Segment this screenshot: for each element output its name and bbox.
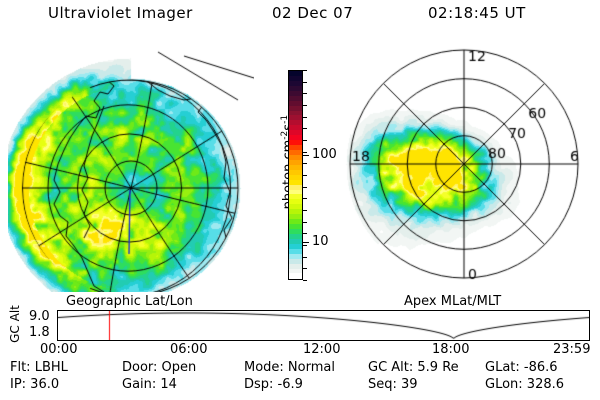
colorbar-minor-tick <box>303 198 307 199</box>
mlt-polar-panel[interactable] <box>336 42 594 294</box>
colorbar-minor-tick <box>303 82 307 83</box>
status-row-secondary: IP: 36.0Gain: 14Dsp: -6.9Seq: 39GLon: 32… <box>0 377 600 394</box>
mlt-aurora-dial[interactable] <box>336 42 594 294</box>
status-field: Mode: Normal <box>244 360 335 375</box>
orbit-y-tick-low: 1.8 <box>29 325 50 340</box>
colorbar-minor-tick <box>303 128 307 129</box>
colorbar-tick-label: 100 <box>312 148 337 161</box>
header-bar: Ultraviolet Imager 02 Dec 07 02:18:45 UT <box>0 4 600 30</box>
orbit-x-tick-label: 06:00 <box>170 342 207 357</box>
status-field: Gain: 14 <box>122 377 177 392</box>
colorbar-group: photon cm-2s-1 10010 <box>255 60 333 292</box>
colorbar-major-tick <box>303 242 309 243</box>
status-footer: Flt: LBHLDoor: OpenMode: NormalGC Alt: 5… <box>0 360 600 398</box>
colorbar-minor-tick <box>303 140 307 141</box>
colorbar-minor-tick <box>303 163 307 164</box>
status-field: GLat: -86.6 <box>485 360 558 375</box>
orbit-altitude-strip: Geographic Lat/Lon Apex MLat/MLT GC Alt … <box>0 294 600 354</box>
observation-time: 02:18:45 UT <box>428 4 526 22</box>
orbit-y-axis-label: GC Alt <box>8 301 22 347</box>
status-field: GC Alt: 5.9 Re <box>368 360 459 375</box>
geo-panel-caption: Geographic Lat/Lon <box>66 294 193 309</box>
colorbar-minor-tick <box>303 245 307 246</box>
status-field: GLon: 328.6 <box>485 377 564 392</box>
geographic-aurora-image[interactable] <box>8 46 254 292</box>
orbit-altitude-curve[interactable] <box>58 311 589 340</box>
colorbar-minor-tick <box>303 222 307 223</box>
colorbar-minor-tick <box>303 233 307 234</box>
colorbar-minor-tick <box>303 210 307 211</box>
orbit-x-tick-label: 18:00 <box>432 342 469 357</box>
status-field: Door: Open <box>122 360 196 375</box>
colorbar-major-tick <box>303 155 309 156</box>
colorbar-minor-tick <box>303 268 307 269</box>
orbit-x-tick-label: 12:00 <box>303 342 340 357</box>
colorbar-minor-tick <box>303 280 307 281</box>
colorbar-minor-tick <box>303 70 307 71</box>
orbit-y-tick-high: 9.0 <box>29 309 50 324</box>
status-field: Dsp: -6.9 <box>244 377 303 392</box>
status-field: Flt: LBHL <box>10 360 68 375</box>
colorbar-minor-tick <box>303 187 307 188</box>
status-field: IP: 36.0 <box>10 377 59 392</box>
mlt-panel-caption: Apex MLat/MLT <box>404 294 501 309</box>
orbit-x-tick-label: 23:59 <box>553 342 590 357</box>
status-row-primary: Flt: LBHLDoor: OpenMode: NormalGC Alt: 5… <box>0 360 600 377</box>
colorbar-gradient[interactable] <box>288 70 303 280</box>
status-field: Seq: 39 <box>368 377 418 392</box>
observation-date: 02 Dec 07 <box>272 4 353 22</box>
colorbar-minor-tick <box>303 175 307 176</box>
orbit-plot-box[interactable] <box>57 310 590 341</box>
colorbar-minor-tick <box>303 105 307 106</box>
colorbar-band <box>289 273 302 278</box>
colorbar-tick-label: 10 <box>312 235 329 248</box>
orbit-x-tick-label: 00:00 <box>40 342 77 357</box>
colorbar-minor-tick <box>303 257 307 258</box>
colorbar-minor-tick <box>303 117 307 118</box>
colorbar-minor-tick <box>303 152 307 153</box>
page-title: Ultraviolet Imager <box>48 4 193 22</box>
colorbar-minor-tick <box>303 93 307 94</box>
geographic-map-panel[interactable] <box>8 46 254 292</box>
